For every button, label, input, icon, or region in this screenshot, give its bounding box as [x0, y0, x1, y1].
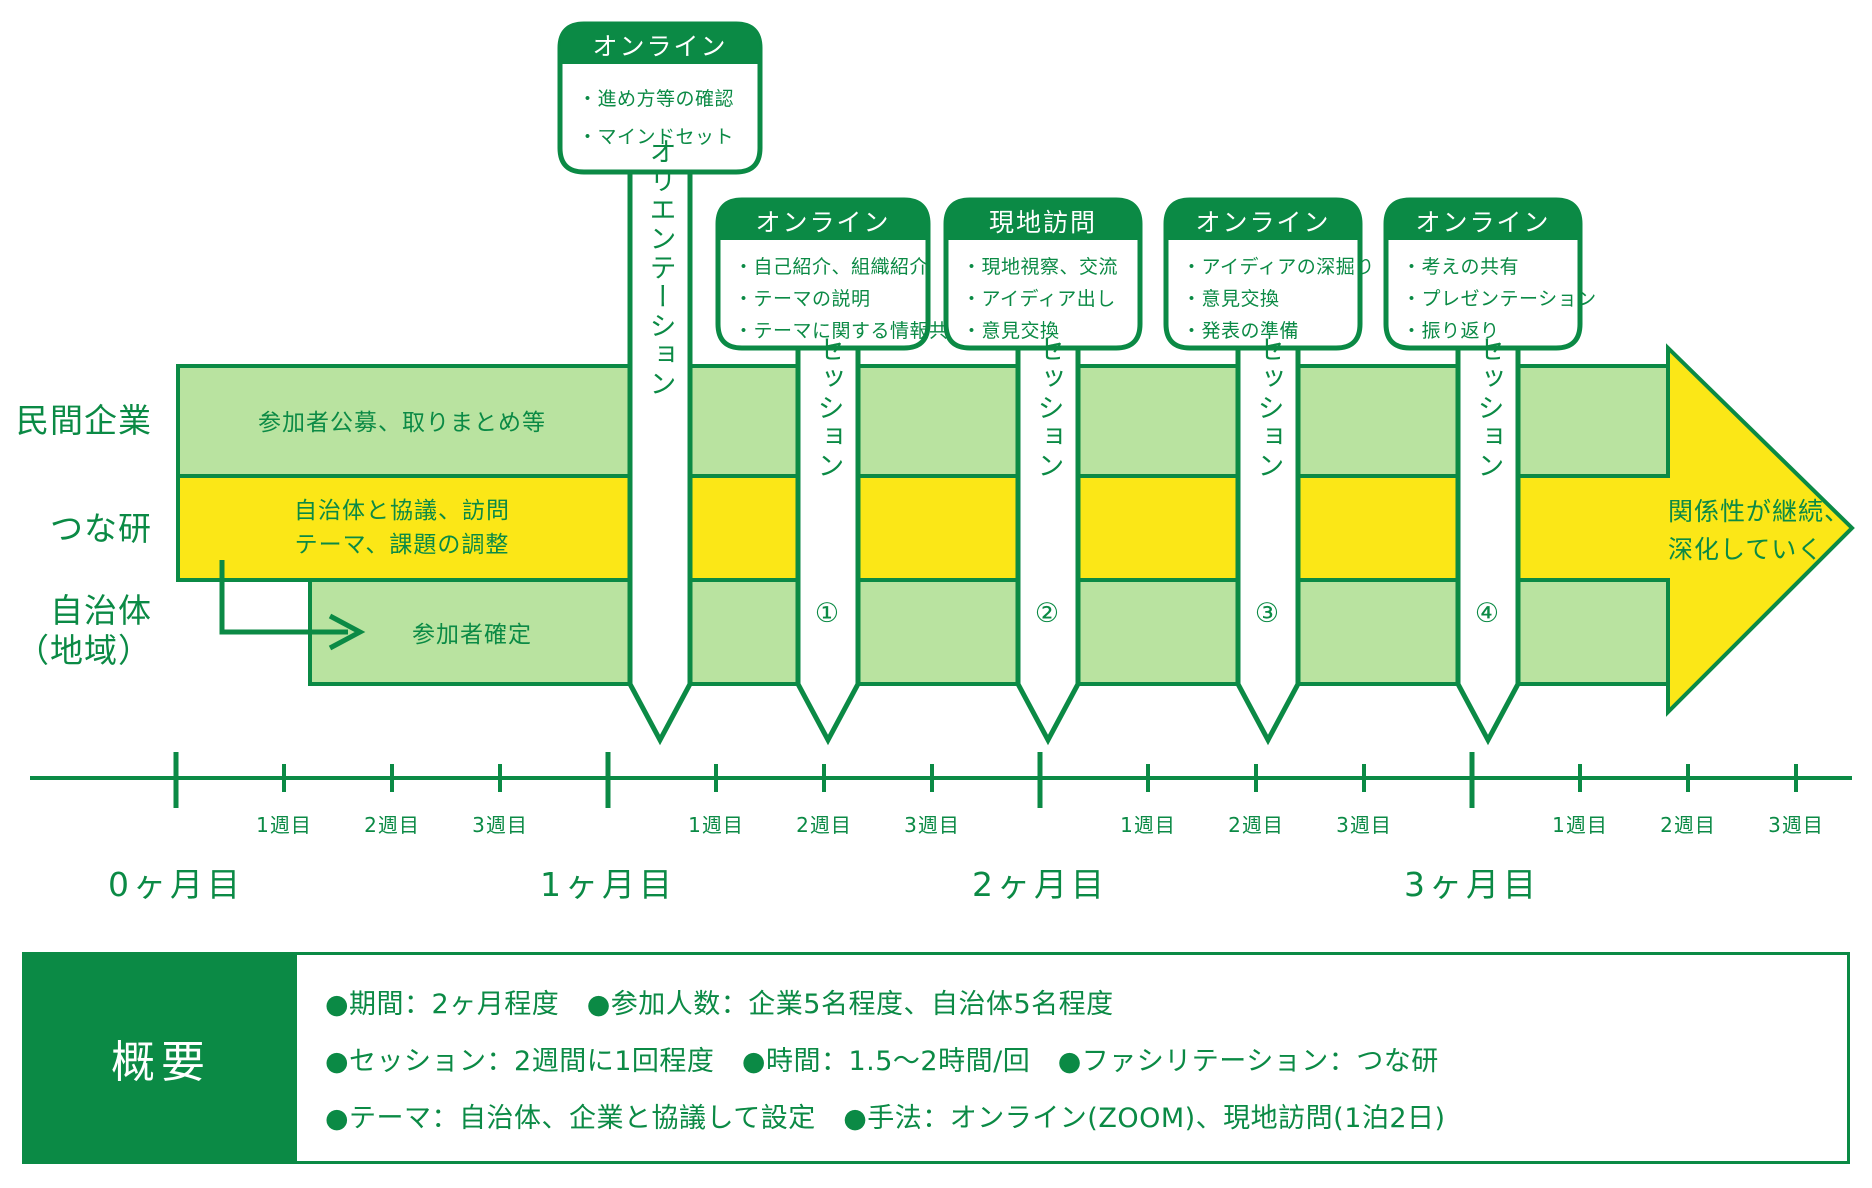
bar-label-company: 参加者公募、取りまとめ等	[258, 410, 546, 436]
bar-label-tsunaken-2: テーマ、課題の調整	[295, 532, 510, 558]
bar-tsunaken	[178, 476, 1668, 580]
stem-number-session-1: ①	[815, 598, 841, 629]
stem-label-session-3: セッション	[1253, 336, 1284, 481]
bars-group	[178, 348, 1852, 712]
stem-number-session-2: ②	[1035, 598, 1061, 629]
bar-label-tsunaken-1: 自治体と協議、訪問	[294, 498, 510, 524]
callout-item: ・考えの共有	[1402, 256, 1519, 278]
week-label: 3週目	[472, 813, 528, 837]
callout-title: オンライン	[755, 208, 890, 237]
summary-line: ●セッション：2週間に1回程度 ●時間：1.5〜2時間/回 ●ファシリテーション…	[325, 1039, 1823, 1078]
arrow-label-line1: 関係性が継続、	[1668, 497, 1850, 526]
callout-title: 現地訪問	[989, 208, 1097, 237]
callout-title: オンライン	[1415, 208, 1550, 237]
week-label: 1週目	[256, 813, 312, 837]
week-label: 3週目	[1336, 813, 1392, 837]
callout-item: ・アイディアの深掘り	[1182, 256, 1375, 278]
callout-item: ・自己紹介、組織紹介	[734, 256, 929, 278]
week-label: 2週目	[796, 813, 852, 837]
week-label: 2週目	[364, 813, 420, 837]
month-label: 1ヶ月目	[540, 865, 676, 904]
callout-session-4[interactable]: オンライン ・考えの共有 ・プレゼンテーション ・振り返り	[1386, 200, 1597, 348]
arrow-label-line2: 深化していく	[1668, 535, 1823, 564]
week-label: 3週目	[1768, 813, 1824, 837]
month-label: 3ヶ月目	[1404, 865, 1540, 904]
week-label: 1週目	[1552, 813, 1608, 837]
summary-heading: 概要	[111, 1026, 211, 1090]
callout-item: ・プレゼンテーション	[1402, 288, 1597, 310]
week-label: 1週目	[1120, 813, 1176, 837]
week-label: 3週目	[904, 813, 960, 837]
month-label: 0ヶ月目	[108, 865, 244, 904]
callout-item: ・テーマに関する情報共有	[734, 320, 968, 342]
bar-label-municipality: 参加者確定	[412, 622, 532, 648]
callout-item: ・意見交換	[1182, 288, 1280, 310]
timeline-axis: 1週目 2週目 3週目 1週目 2週目 3週目 1週目 2週目 3週目 1週目 …	[30, 752, 1852, 904]
month-label: 2ヶ月目	[972, 865, 1108, 904]
callouts-group: オンライン ・進め方等の確認 ・マインドセット オンライン ・自己紹介、組織紹介…	[560, 24, 1597, 348]
row-label-municipality-sub: （地域）	[16, 631, 152, 670]
callout-session-2[interactable]: 現地訪問 ・現地視察、交流 ・アイディア出し ・意見交換	[946, 200, 1140, 348]
callout-session-3[interactable]: オンライン ・アイディアの深掘り ・意見交換 ・発表の準備	[1166, 200, 1375, 348]
stem-number-session-3: ③	[1255, 598, 1281, 629]
stem-label-orientation: オリエンテーション	[645, 138, 676, 399]
summary-line: ●テーマ：自治体、企業と協議して設定 ●手法：オンライン(ZOOM)、現地訪問(…	[325, 1096, 1823, 1135]
diagram-page: オンライン ・進め方等の確認 ・マインドセット オンライン ・自己紹介、組織紹介…	[0, 0, 1872, 1188]
continuation-arrow	[1668, 348, 1852, 712]
callout-item: ・アイディア出し	[962, 288, 1116, 310]
callout-session-1[interactable]: オンライン ・自己紹介、組織紹介 ・テーマの説明 ・テーマに関する情報共有	[718, 200, 968, 348]
summary-heading-panel: 概要	[25, 955, 297, 1161]
row-label-municipality: 自治体	[50, 591, 152, 630]
week-label: 2週目	[1660, 813, 1716, 837]
stem-label-session-2: セッション	[1033, 336, 1064, 481]
row-label-tsunaken: つな研	[50, 509, 152, 548]
row-labels-group: 民間企業 つな研 自治体 （地域）	[16, 401, 152, 670]
callout-item: ・現地視察、交流	[962, 256, 1118, 278]
summary-lines: ●期間：2ヶ月程度 ●参加人数：企業5名程度、自治体5名程度 ●セッション：2週…	[297, 955, 1847, 1161]
stem-label-session-4: セッション	[1473, 336, 1504, 481]
row-label-private-company: 民間企業	[16, 401, 152, 440]
stem-label-session-1: セッション	[813, 336, 844, 481]
week-label: 1週目	[688, 813, 744, 837]
summary-line: ●期間：2ヶ月程度 ●参加人数：企業5名程度、自治体5名程度	[325, 982, 1823, 1021]
summary-box: 概要 ●期間：2ヶ月程度 ●参加人数：企業5名程度、自治体5名程度 ●セッション…	[22, 952, 1850, 1164]
callout-title: オンライン	[1195, 208, 1330, 237]
callout-item: ・進め方等の確認	[578, 88, 734, 110]
callout-title: オンライン	[592, 32, 727, 61]
week-label: 2週目	[1228, 813, 1284, 837]
callout-item: ・テーマの説明	[734, 288, 871, 310]
stem-number-session-4: ④	[1475, 598, 1501, 629]
